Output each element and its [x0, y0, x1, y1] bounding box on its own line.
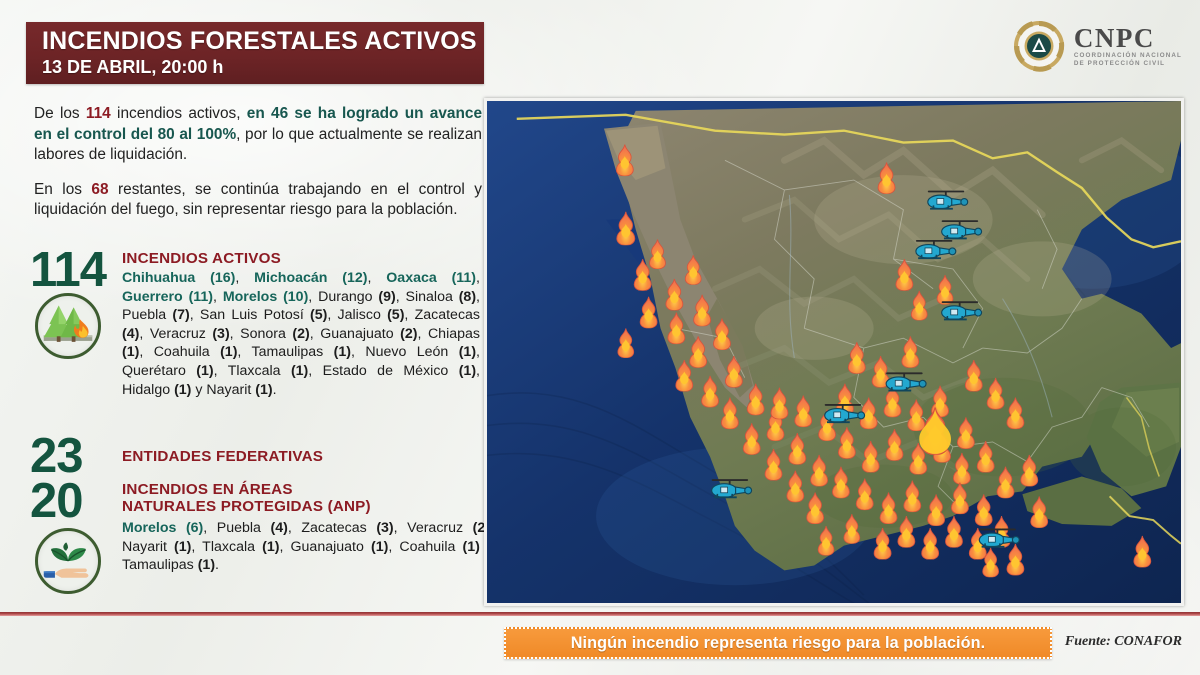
source-label: Fuente: CONAFOR [1065, 634, 1182, 650]
state-count: (1) [198, 557, 215, 573]
intro-p1-a: De los [34, 105, 86, 122]
state-count: (11) [452, 270, 476, 286]
stat-anp-label-line1: INCENDIOS EN ÁREAS [122, 481, 494, 498]
state-count: (2) [292, 326, 309, 342]
state-count: (6) [186, 520, 203, 536]
stat-entidades-body: ENTIDADES FEDERATIVAS [122, 433, 482, 465]
state-count: (3) [212, 326, 229, 342]
cnpc-logo-text: CNPC COORDINACIÓN NACIONAL DE PROTECCIÓN… [1074, 24, 1182, 69]
state-name: Puebla [122, 307, 172, 323]
state-count: (4) [122, 326, 139, 342]
state-count: (1) [334, 344, 351, 360]
state-name: Morelos [223, 289, 283, 305]
state-name: Chiapas [428, 326, 480, 342]
state-name: Tamaulipas [252, 344, 334, 360]
state-count: (1) [459, 344, 476, 360]
state-name: Tlaxcala [202, 539, 262, 555]
state-count: (1) [174, 539, 191, 555]
state-name: Tlaxcala [228, 363, 291, 379]
state-name: Nayarit [122, 539, 174, 555]
state-name: Veracruz [150, 326, 213, 342]
state-name: Sinaloa [406, 289, 459, 305]
stat-anp-label-line2: NATURALES PROTEGIDAS (ANP) [122, 498, 494, 515]
state-count: (7) [172, 307, 189, 323]
infographic-root: INCENDIOS FORESTALES ACTIVOS 13 DE ABRIL… [0, 0, 1200, 675]
state-name: Chihuahua [122, 270, 210, 286]
cnpc-acronym: CNPC [1074, 24, 1182, 52]
safety-banner-text: Ningún incendio representa riesgo para l… [571, 634, 985, 653]
state-count: (1) [462, 539, 479, 555]
state-count: (1) [262, 539, 279, 555]
state-name: Nayarit [206, 382, 255, 398]
stat-anp-body: INCENDIOS EN ÁREAS NATURALES PROTEGIDAS … [122, 478, 494, 575]
state-count: (9) [378, 289, 395, 305]
state-count: (1) [255, 382, 272, 398]
mexico-fire-map[interactable] [487, 101, 1181, 603]
state-name: Morelos [122, 520, 186, 536]
state-name: Querétaro [122, 363, 196, 379]
state-name: Coahuila [399, 539, 462, 555]
stat-activos-body: INCENDIOS ACTIVOS Chihuahua (16), Michoa… [122, 247, 482, 399]
stat-anp-state-list: Morelos (6), Puebla (4), Zacatecas (3), … [122, 519, 494, 575]
state-count: (8) [459, 289, 476, 305]
stat-entidades-number: 23 [30, 433, 122, 479]
intro-total-count: 114 [86, 105, 111, 122]
intro-remaining-count: 68 [91, 181, 108, 198]
forest-fire-icon [35, 293, 101, 359]
cnpc-tagline-1: COORDINACIÓN NACIONAL [1074, 52, 1182, 61]
state-count: (1) [196, 363, 213, 379]
state-count: (12) [342, 270, 367, 286]
state-name: Guerrero [122, 289, 189, 305]
map-panel[interactable] [484, 98, 1184, 606]
stat-activos-state-list: Chihuahua (16), Michoacán (12), Oaxaca (… [122, 269, 480, 399]
state-count: (1) [220, 344, 237, 360]
state-name: Sonora [240, 326, 292, 342]
intro-p2-a: En los [34, 181, 91, 198]
state-count: (1) [291, 363, 308, 379]
state-count: (1) [122, 344, 139, 360]
state-name: Durango [318, 289, 378, 305]
state-count: (1) [174, 382, 191, 398]
intro-p1-b: incendios activos, [111, 105, 247, 122]
state-count: (3) [376, 520, 393, 536]
protected-natural-area-icon [35, 528, 101, 594]
state-name: Guanajuato [291, 539, 371, 555]
state-count: (16) [210, 270, 235, 286]
stat-entidades-federativas: 23 ENTIDADES FEDERATIVAS [30, 433, 482, 479]
state-name: Michoacán [254, 270, 342, 286]
state-name: Jalisco [338, 307, 388, 323]
header-bar: INCENDIOS FORESTALES ACTIVOS 13 DE ABRIL… [26, 22, 484, 84]
stat-activos-label: INCENDIOS ACTIVOS [122, 250, 482, 267]
state-name: Guanajuato [320, 326, 400, 342]
intro-paragraph-1: De los 114 incendios activos, en 46 se h… [34, 104, 482, 166]
intro-paragraph-2: En los 68 restantes, se continúa trabaja… [34, 180, 482, 221]
cnpc-logo: CNPC COORDINACIÓN NACIONAL DE PROTECCIÓN… [1013, 20, 1182, 72]
state-name: Veracruz [407, 520, 473, 536]
state-name: Nuevo León [365, 344, 458, 360]
state-count: (1) [459, 363, 476, 379]
page-title: INCENDIOS FORESTALES ACTIVOS [42, 28, 484, 55]
state-name: Tamaulipas [122, 557, 198, 573]
state-count: (5) [387, 307, 404, 323]
state-name: Oaxaca [386, 270, 451, 286]
cnpc-tagline-2: DE PROTECCIÓN CIVIL [1074, 60, 1182, 69]
page-subtitle: 13 DE ABRIL, 20:00 h [42, 56, 484, 78]
state-count: (2) [400, 326, 417, 342]
state-count: (10) [283, 289, 308, 305]
cnpc-emblem-icon [1013, 20, 1065, 72]
bottom-divider [0, 612, 1200, 616]
state-name: San Luis Potosí [200, 307, 310, 323]
state-name: Puebla [217, 520, 271, 536]
state-name: Coahuila [154, 344, 220, 360]
state-count: (11) [189, 289, 213, 305]
state-count: (1) [371, 539, 388, 555]
state-count: (4) [270, 520, 287, 536]
state-name: Zacatecas [415, 307, 480, 323]
state-name: Hidalgo [122, 382, 174, 398]
stat-entidades-label: ENTIDADES FEDERATIVAS [122, 436, 482, 465]
safety-banner: Ningún incendio representa riesgo para l… [504, 627, 1052, 659]
intro-text: De los 114 incendios activos, en 46 se h… [34, 104, 482, 221]
state-name: Estado de México [323, 363, 459, 379]
state-name: Zacatecas [301, 520, 376, 536]
state-count: (5) [310, 307, 327, 323]
